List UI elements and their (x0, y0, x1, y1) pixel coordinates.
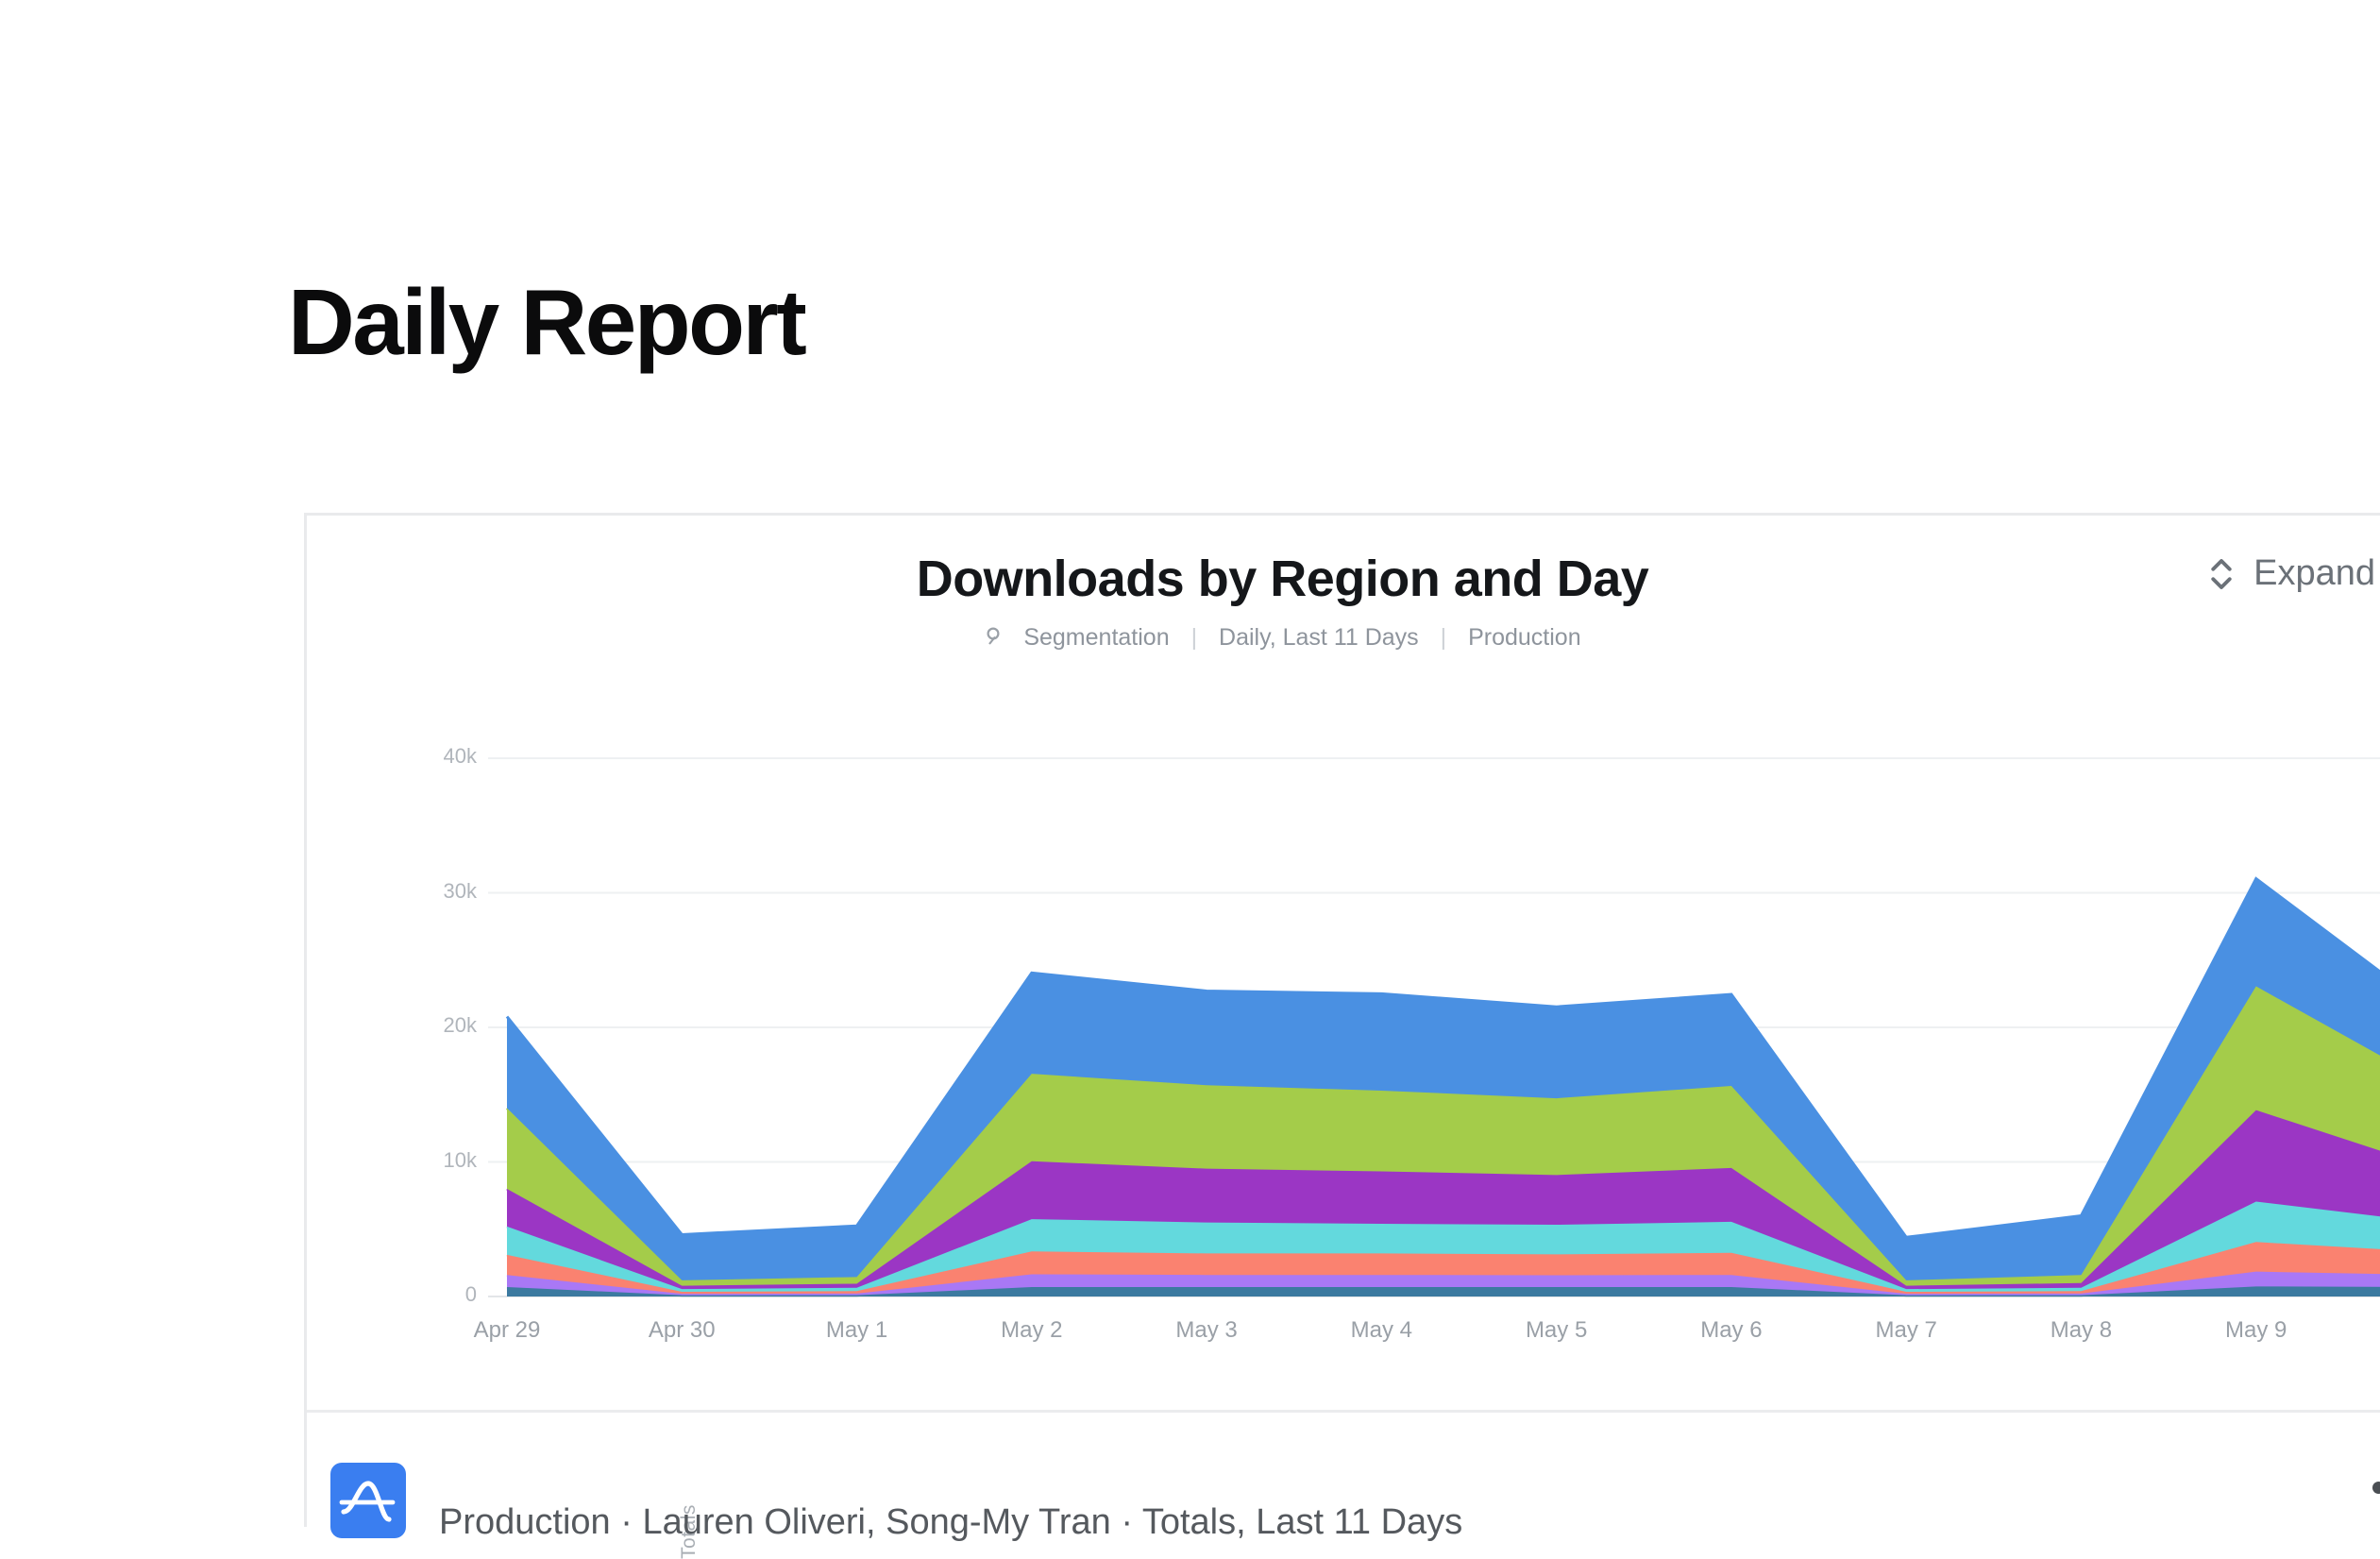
y-axis-tick: 0 (363, 1282, 477, 1307)
y-axis-tick: 20k (363, 1013, 477, 1038)
x-axis-tick: May 2 (937, 1317, 1126, 1344)
x-axis-tick: May 3 (1112, 1317, 1301, 1344)
chart-card: Downloads by Region and Day Segmentation… (304, 513, 2380, 1527)
y-axis-tick: 10k (363, 1148, 477, 1173)
x-axis-tick: May 10 (2337, 1317, 2380, 1344)
page-title: Daily Report (288, 276, 804, 368)
chart-plot-area[interactable]: 010k20k30k40kApr 29Apr 30May 1May 2May 3… (307, 516, 2380, 1408)
y-axis-tick: 30k (363, 879, 477, 904)
y-axis-tick: 40k (363, 744, 477, 769)
x-axis-tick: May 9 (2162, 1317, 2351, 1344)
x-axis-tick: May 7 (1812, 1317, 2000, 1344)
x-axis-tick: May 1 (763, 1317, 952, 1344)
footer-description: Production · Lauren Oliveri, Song-My Tra… (439, 1502, 1462, 1543)
x-axis-tick: Apr 29 (413, 1317, 601, 1344)
stacked-area-chart[interactable] (307, 516, 2380, 1408)
x-axis-tick: May 4 (1287, 1317, 1476, 1344)
amplitude-logo-icon (330, 1463, 406, 1538)
x-axis-tick: May 5 (1462, 1317, 1651, 1344)
x-axis-tick: Apr 30 (587, 1317, 776, 1344)
x-axis-tick: May 8 (1986, 1317, 2175, 1344)
chart-card-footer: Production · Lauren Oliveri, Song-My Tra… (307, 1410, 2380, 1527)
more-horizontal-icon[interactable] (2372, 1482, 2380, 1494)
x-axis-tick: May 6 (1637, 1317, 1826, 1344)
